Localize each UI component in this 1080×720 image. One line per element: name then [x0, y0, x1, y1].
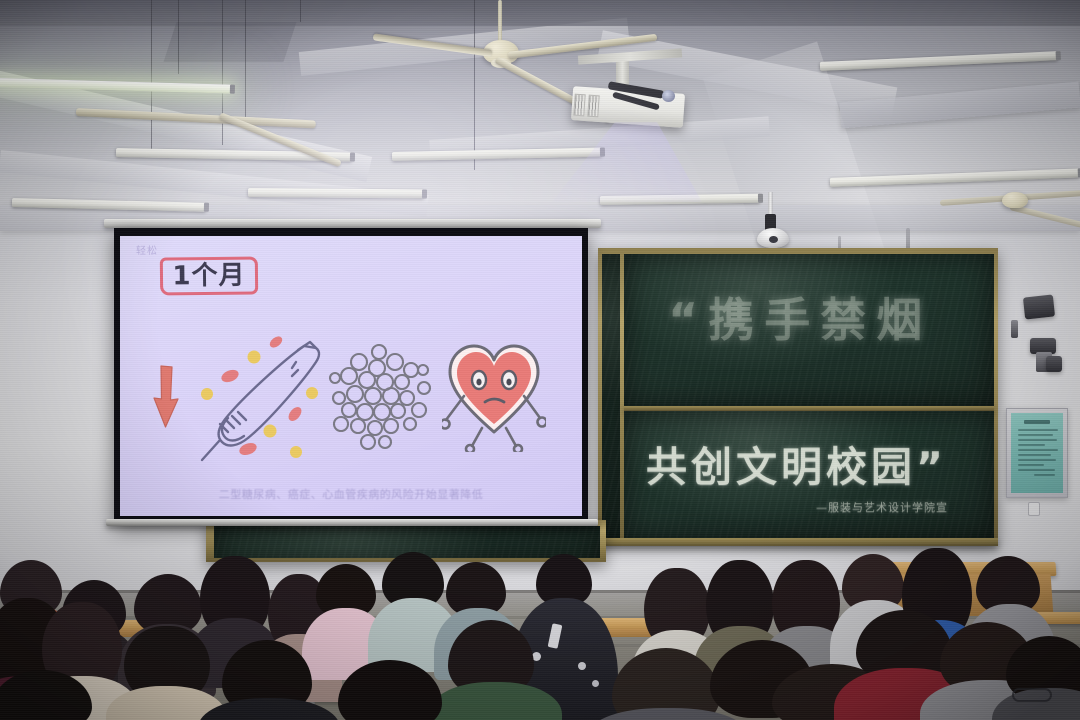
- audience-member: [1000, 636, 1080, 720]
- fan-blade: [1009, 204, 1080, 234]
- blackboard: “携手禁烟 共创文明校园” —服装与艺术设计学院宣: [598, 248, 998, 548]
- light-suspension-wire: [300, 0, 301, 22]
- light-switch[interactable]: [1028, 502, 1040, 516]
- light-suspension-wire: [178, 0, 179, 74]
- blackboard-text-bottom: 共创文明校园”: [646, 433, 947, 493]
- illustration-sad-heart: [442, 336, 546, 457]
- camera-lens-icon: [769, 236, 778, 243]
- wall-speaker: [1023, 294, 1055, 319]
- projection-screen[interactable]: 轻松 1个月: [114, 228, 588, 524]
- down-arrow-icon: [151, 364, 181, 435]
- projection-screen-weight-bar: [106, 519, 598, 526]
- ceiling-fan[interactable]: [60, 88, 340, 178]
- slide-faint-header: 轻松: [136, 242, 158, 257]
- illustration-syringe: [192, 332, 332, 477]
- audience-member: [118, 626, 218, 720]
- audience-member: [328, 660, 458, 720]
- blackboard-signature: —服装与艺术设计学院宣: [816, 499, 948, 515]
- notice-title-bar: [1024, 420, 1050, 424]
- blackboard-text-top: “携手禁烟: [668, 284, 932, 350]
- ceiling-projector[interactable]: [572, 76, 732, 156]
- ceiling-fan[interactable]: [940, 182, 1080, 242]
- blackboard-panel-top: “携手禁烟: [624, 254, 994, 406]
- presentation-slide: 轻松 1个月: [120, 236, 582, 516]
- fan-blade: [76, 108, 316, 129]
- slide-caption: 二型糖尿病、癌症、心血管疾病的风险开始显著降低: [120, 486, 582, 502]
- wall-bracket: [1011, 320, 1018, 338]
- illustration-cell-cluster: [325, 338, 435, 463]
- dome-security-camera: [757, 192, 797, 248]
- projection-screen-roller[interactable]: [104, 219, 601, 228]
- projector-lens: [662, 90, 675, 102]
- slide-title-text: 1个月: [172, 263, 245, 290]
- fluorescent-tube-light[interactable]: [248, 188, 424, 199]
- blackboard-panel-bottom: 共创文明校园” —服装与艺术设计学院宣: [624, 411, 994, 538]
- projector-vent: [573, 94, 586, 117]
- blackboard-side-panel: [602, 254, 620, 538]
- slide-title-badge: 1个月: [160, 256, 258, 295]
- audience-member: [212, 640, 328, 720]
- eyeglasses-icon: [1012, 688, 1052, 702]
- audience-member: [0, 670, 106, 720]
- blackboard-chalk-ledge: [598, 538, 998, 546]
- framed-notice-poster: [1006, 408, 1068, 498]
- classroom-scene: “携手禁烟 共创文明校园” —服装与艺术设计学院宣: [0, 0, 1080, 720]
- wall-junction-box: [1046, 356, 1062, 372]
- projector-vent: [587, 95, 600, 118]
- notice-poster-content: [1011, 413, 1063, 493]
